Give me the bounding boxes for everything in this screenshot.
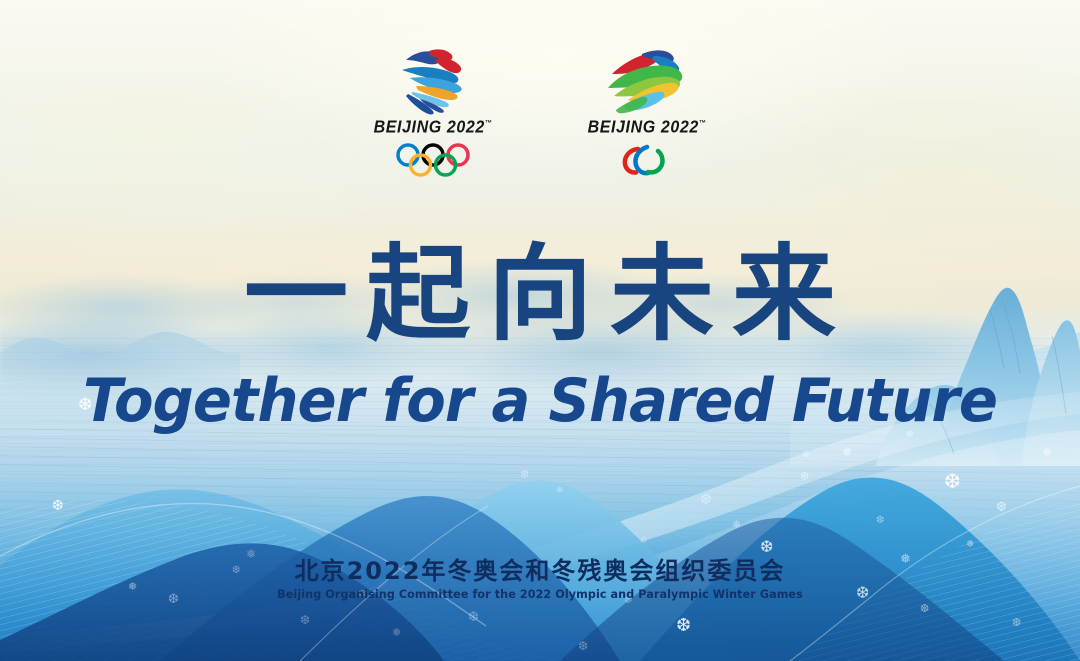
olympic-emblem[interactable]: BEIJING 2022™ — [348, 44, 518, 177]
olympic-rings-icon — [395, 143, 471, 177]
snowflake-icon: ❆ — [640, 536, 648, 545]
snowflake-icon: ❅ — [1042, 446, 1052, 458]
organisation-name-cn: 北京2022年冬奥会和冬残奥会组织委员会 — [0, 556, 1080, 586]
winter-dream-emblem-svg — [390, 44, 476, 116]
snowflake-icon: ❆ — [944, 472, 961, 492]
organisation-name-en: Beijing Organising Committee for the 202… — [16, 586, 1064, 602]
paralympic-emblem[interactable]: BEIJING 2022™ — [562, 44, 732, 177]
snowflake-icon: ❆ — [1012, 618, 1021, 629]
agitos-svg — [616, 144, 678, 176]
snowflake-icon: ❆ — [578, 640, 588, 652]
snowflake-icon: ❆ — [676, 616, 691, 634]
snowflake-icon: ❅ — [556, 486, 564, 495]
snowflake-icon: ❆ — [300, 614, 310, 626]
snowflake-icon: ❆ — [920, 604, 929, 615]
olympic-wordmark: BEIJING 2022™ — [374, 118, 493, 138]
emblem-row: BEIJING 2022™ — [0, 44, 1080, 194]
snowflake-icon: ❆ — [700, 492, 712, 506]
snowflake-icon: ❆ — [996, 500, 1007, 513]
snowflake-icon: ❆ — [760, 540, 773, 556]
slogan-english: Together for a Shared Future — [22, 368, 1059, 434]
paralympic-wordmark: BEIJING 2022™ — [588, 118, 707, 138]
snowflake-icon: ❆ — [876, 516, 884, 526]
snowflake-icon: ❆ — [52, 498, 64, 512]
snowflake-icon: ❆ — [520, 470, 529, 481]
organisation-block: 北京2022年冬奥会和冬残奥会组织委员会 Beijing Organising … — [0, 556, 1080, 602]
flight-emblem-svg — [602, 44, 692, 116]
winter-dream-emblem-icon — [390, 44, 476, 116]
agitos-icon — [616, 143, 678, 177]
snowflake-icon: ❅ — [842, 446, 852, 458]
snowflake-icon: ❅ — [966, 540, 974, 550]
poster-canvas: ❆❆❅❆❆❅❆❆❅❆❆❅❆❆❆❆❅❆❆❅❆❆❅❆❆❆❅❆❆❅❆❆ — [0, 0, 1080, 661]
snowflake-icon: ❆ — [468, 610, 479, 623]
snowflake-icon: ❅ — [392, 628, 401, 639]
flight-emblem-icon — [602, 44, 692, 116]
snowflake-icon: ❆ — [800, 472, 809, 483]
slogan-chinese: 一起向未来 — [0, 238, 1080, 350]
snowflake-icon: ❅ — [732, 520, 741, 531]
snowflake-icon: ❆ — [802, 450, 810, 459]
olympic-rings-svg — [395, 143, 471, 177]
